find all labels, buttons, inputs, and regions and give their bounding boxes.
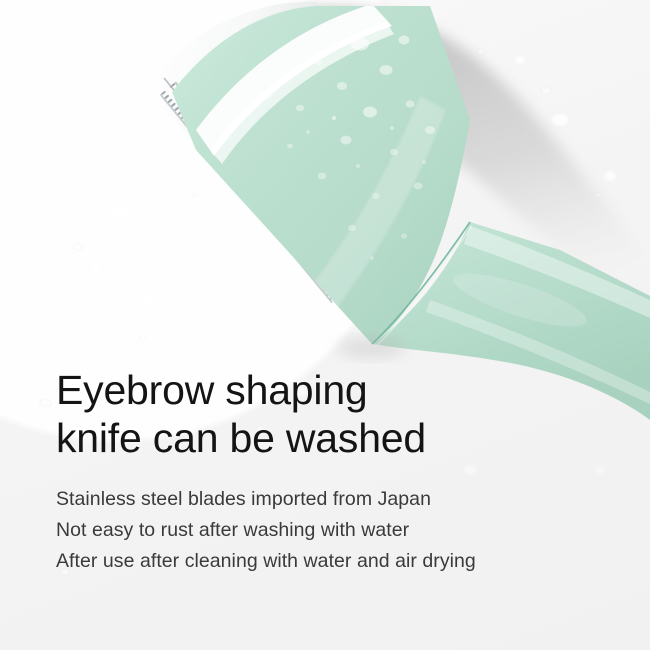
headline-line-1: Eyebrow shaping	[56, 366, 616, 414]
feature-line-1: Stainless steel blades imported from Jap…	[56, 484, 616, 515]
product-marketing-image: Eyebrow shaping knife can be washed Stai…	[0, 0, 650, 650]
headline-line-2: knife can be washed	[56, 414, 616, 462]
marketing-copy: Eyebrow shaping knife can be washed Stai…	[56, 366, 616, 577]
feature-line-2: Not easy to rust after washing with wate…	[56, 515, 616, 546]
tip-contact-shadow	[338, 338, 406, 358]
feature-list: Stainless steel blades imported from Jap…	[56, 484, 616, 577]
feature-line-3: After use after cleaning with water and …	[56, 546, 616, 577]
